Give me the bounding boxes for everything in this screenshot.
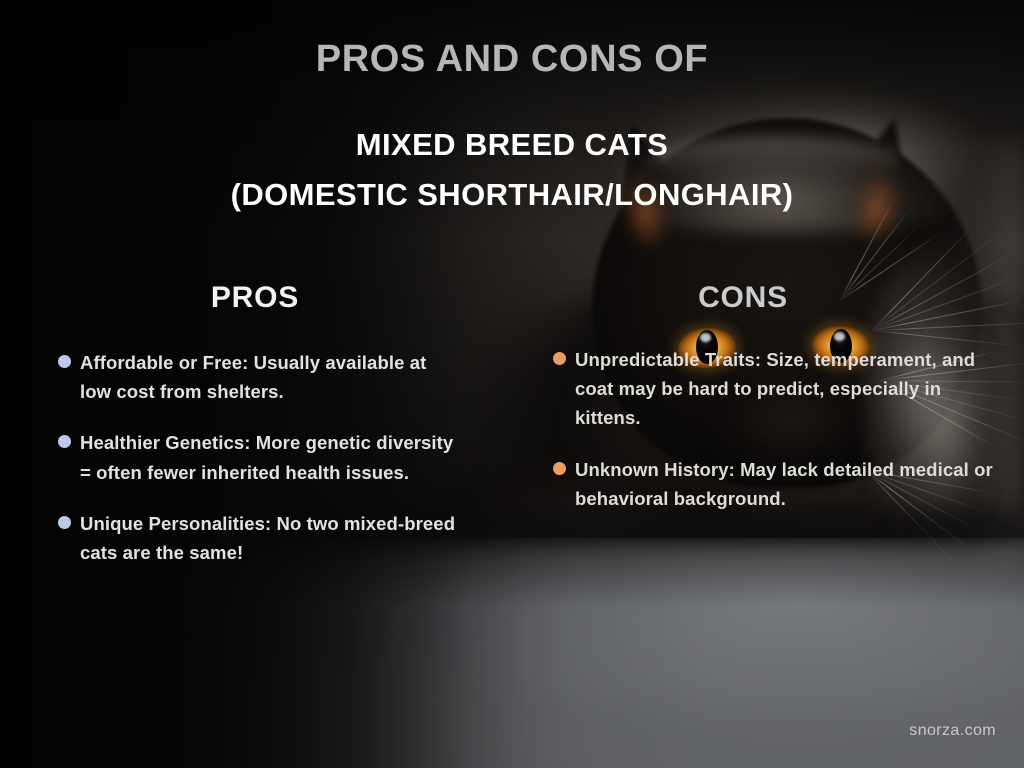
infographic-canvas: PROS AND CONS OF MIXED BREED CATS (DOMES…	[0, 0, 1024, 768]
bullet-circle-icon	[58, 516, 71, 529]
pros-item-text: Unique Personalities: No two mixed-breed…	[80, 509, 458, 567]
cons-item-text: Unpredictable Traits: Size, temperament,…	[575, 345, 998, 433]
cons-item: Unknown History: May lack detailed medic…	[553, 455, 998, 513]
pros-item-text: Affordable or Free: Usually available at…	[80, 348, 458, 406]
pros-list: Affordable or Free: Usually available at…	[58, 348, 458, 589]
cons-item: Unpredictable Traits: Size, temperament,…	[553, 345, 998, 433]
bullet-circle-icon	[58, 435, 71, 448]
pros-item: Affordable or Free: Usually available at…	[58, 348, 458, 406]
bullet-circle-icon	[58, 355, 71, 368]
pros-item: Unique Personalities: No two mixed-breed…	[58, 509, 458, 567]
page-title-line-1: MIXED BREED CATS	[356, 127, 668, 162]
page-title: MIXED BREED CATS (DOMESTIC SHORTHAIR/LON…	[0, 120, 1024, 219]
pros-column-heading: PROS	[160, 281, 350, 315]
watermark: snorza.com	[909, 722, 996, 740]
bullet-circle-icon	[553, 352, 566, 365]
pros-item-text: Healthier Genetics: More genetic diversi…	[80, 428, 458, 486]
cons-item-text: Unknown History: May lack detailed medic…	[575, 455, 998, 513]
page-title-line-2: (DOMESTIC SHORTHAIR/LONGHAIR)	[0, 170, 1024, 220]
pros-item: Healthier Genetics: More genetic diversi…	[58, 428, 458, 486]
cons-column-heading: CONS	[648, 281, 838, 315]
bullet-circle-icon	[553, 462, 566, 475]
infographic-content: PROS AND CONS OF MIXED BREED CATS (DOMES…	[0, 0, 1024, 768]
eyebrow-title: PROS AND CONS OF	[0, 38, 1024, 81]
cons-list: Unpredictable Traits: Size, temperament,…	[553, 345, 998, 535]
